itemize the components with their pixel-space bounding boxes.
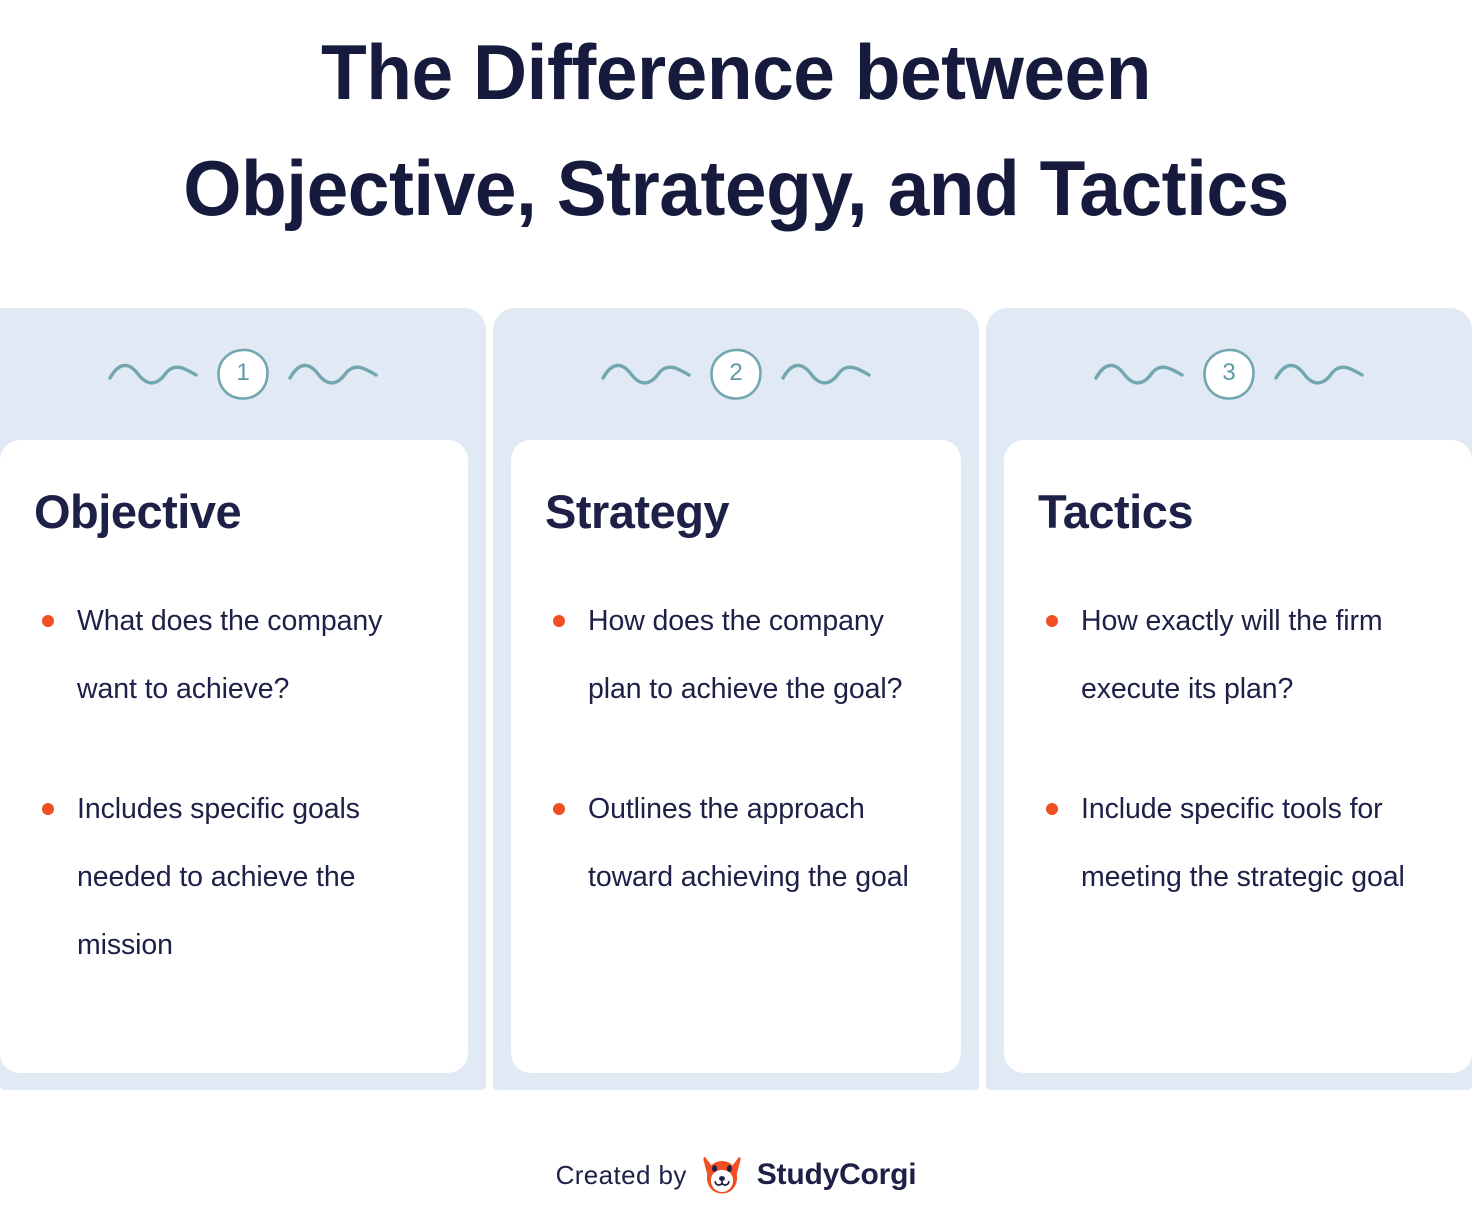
- bullet-dot-icon: [42, 803, 54, 815]
- card-tactics: Tactics How exactly will the firm execut…: [1004, 440, 1472, 1073]
- step-header-1: 1: [0, 308, 486, 440]
- step-badge-number-1: 1: [236, 361, 249, 387]
- list-item: What does the company want to achieve?: [34, 587, 434, 723]
- card-heading-tactics: Tactics: [1038, 488, 1438, 535]
- bullet-dot-icon: [553, 615, 565, 627]
- list-item: How does the company plan to achieve the…: [545, 587, 927, 723]
- card-heading-objective: Objective: [34, 488, 434, 535]
- step-badge-number-2: 2: [729, 361, 742, 387]
- page-title: The Difference between Objective, Strate…: [0, 0, 1472, 246]
- bullet-dot-icon: [1046, 615, 1058, 627]
- bullet-list-objective: What does the company want to achieve? I…: [34, 587, 434, 979]
- card-heading-strategy: Strategy: [545, 488, 927, 535]
- brand-name: StudyCorgi: [757, 1158, 917, 1192]
- column-objective: 1 Objective What does the company want t…: [0, 308, 486, 1090]
- bullet-text: How exactly will the firm execute its pl…: [1081, 605, 1383, 705]
- bullet-dot-icon: [42, 615, 54, 627]
- squiggle-left-icon: [600, 359, 692, 389]
- card-objective: Objective What does the company want to …: [0, 440, 468, 1073]
- step-badge-2: 2: [709, 347, 763, 401]
- step-header-3: 3: [986, 308, 1472, 440]
- column-strategy: 2 Strategy How does the company plan to …: [493, 308, 979, 1090]
- squiggle-left-icon: [107, 359, 199, 389]
- squiggle-right-icon: [780, 359, 872, 389]
- bullet-text: Include specific tools for meeting the s…: [1081, 793, 1405, 893]
- bullet-list-tactics: How exactly will the firm execute its pl…: [1038, 587, 1438, 911]
- list-item: Outlines the approach toward achieving t…: [545, 775, 927, 911]
- list-item: Includes specific goals needed to achiev…: [34, 775, 434, 979]
- bullet-text: What does the company want to achieve?: [77, 605, 382, 705]
- bullet-list-strategy: How does the company plan to achieve the…: [545, 587, 927, 911]
- column-tactics: 3 Tactics How exactly will the firm exec…: [986, 308, 1472, 1090]
- bullet-text: Outlines the approach toward achieving t…: [588, 793, 909, 893]
- created-by-label: Created by: [556, 1160, 687, 1191]
- squiggle-right-icon: [287, 359, 379, 389]
- page-title-line-1: The Difference between: [29, 14, 1442, 130]
- bullet-dot-icon: [1046, 803, 1058, 815]
- step-badge-1: 1: [216, 347, 270, 401]
- step-header-2: 2: [493, 308, 979, 440]
- bullet-text: How does the company plan to achieve the…: [588, 605, 902, 705]
- step-badge-3: 3: [1202, 347, 1256, 401]
- squiggle-right-icon: [1273, 359, 1365, 389]
- corgi-face-icon: [701, 1155, 743, 1195]
- page-title-line-2: Objective, Strategy, and Tactics: [29, 130, 1442, 246]
- list-item: Include specific tools for meeting the s…: [1038, 775, 1438, 911]
- bullet-text: Includes specific goals needed to achiev…: [77, 793, 360, 961]
- footer-credit: Created by StudyCorgi: [0, 1155, 1472, 1195]
- bullet-dot-icon: [553, 803, 565, 815]
- card-strategy: Strategy How does the company plan to ac…: [511, 440, 961, 1073]
- list-item: How exactly will the firm execute its pl…: [1038, 587, 1438, 723]
- step-badge-number-3: 3: [1222, 361, 1235, 387]
- comparison-band: 1 Objective What does the company want t…: [0, 308, 1472, 1090]
- squiggle-left-icon: [1093, 359, 1185, 389]
